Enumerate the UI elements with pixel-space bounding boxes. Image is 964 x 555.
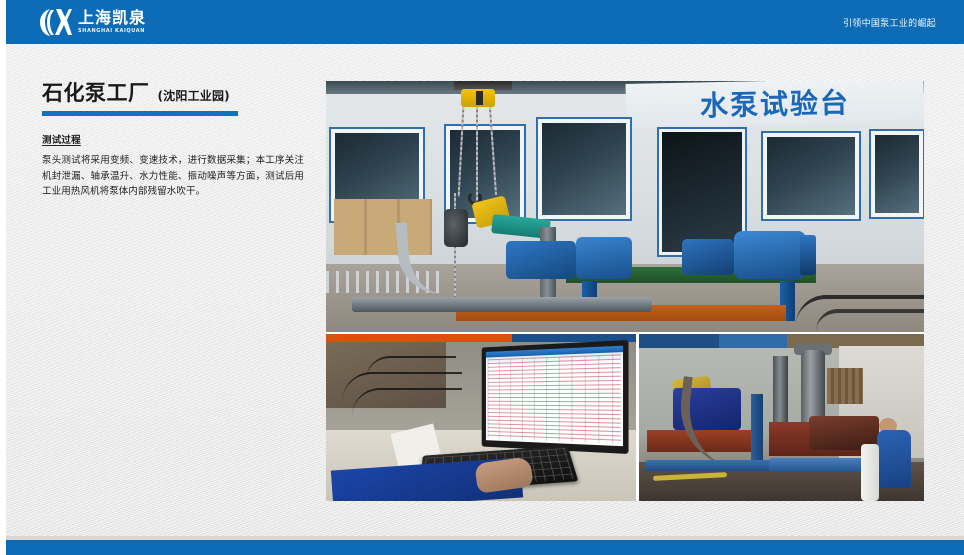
title-subtitle: (沈阳工业园) <box>158 87 230 104</box>
title-underline-rule <box>42 111 238 116</box>
photo-collage: 水泵试验台 <box>326 81 924 501</box>
brand-logo[interactable]: 上海凯泉 SHANGHAI KAIQUAN <box>38 6 146 38</box>
section-heading: 测试过程 <box>42 132 304 146</box>
page-title: 石化泵工厂 (沈阳工业园) <box>42 82 304 105</box>
logo-company-cn: 上海凯泉 <box>78 10 146 26</box>
logo-text-block: 上海凯泉 SHANGHAI KAIQUAN <box>78 10 146 34</box>
title-main: 石化泵工厂 <box>42 82 150 105</box>
pump-skid-test-photo <box>639 334 924 501</box>
data-acquisition-photo <box>326 334 636 501</box>
body-paragraph: 泵头测试将采用变频、变速技术，进行数据采集；本工序关注机封泄漏、轴承温升、水力性… <box>42 153 304 200</box>
test-bench-sign-text: 水泵试验台 <box>626 81 924 128</box>
header-bar: 上海凯泉 SHANGHAI KAIQUAN 引领中国泵工业的崛起 <box>6 0 964 44</box>
pump-test-bench-photo: 水泵试验台 <box>326 81 924 332</box>
kaiquan-logo-icon <box>38 6 72 38</box>
footer-bar <box>6 540 964 555</box>
logo-company-en: SHANGHAI KAIQUAN <box>78 29 146 34</box>
text-column: 石化泵工厂 (沈阳工业园) 测试过程 泵头测试将采用变频、变速技术，进行数据采集… <box>42 82 304 200</box>
header-slogan: 引领中国泵工业的崛起 <box>843 0 936 44</box>
slide: 上海凯泉 SHANGHAI KAIQUAN 引领中国泵工业的崛起 石化泵工厂 (… <box>0 0 964 555</box>
